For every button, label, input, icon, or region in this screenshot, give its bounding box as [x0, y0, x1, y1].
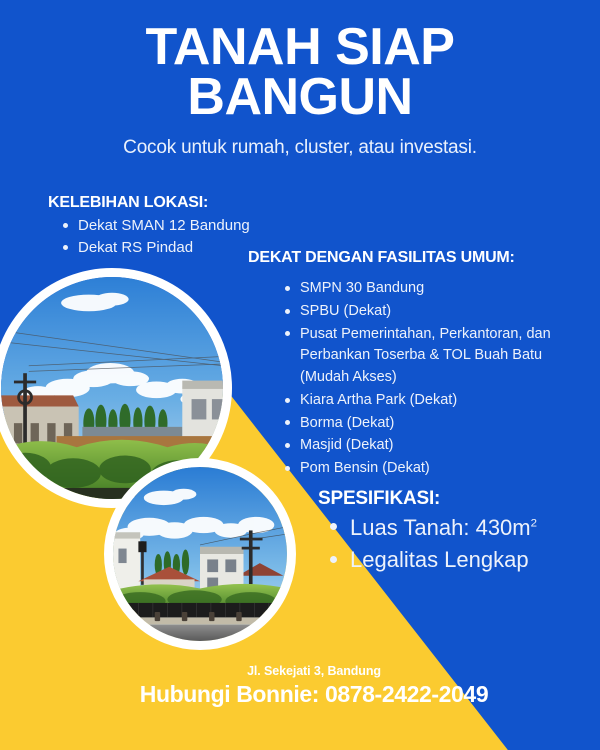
luas-tanah-value: Luas Tanah: 430m — [350, 515, 531, 540]
list-item-legalitas: Legalitas Lengkap — [326, 544, 590, 575]
real-estate-flyer: TANAH SIAP BANGUN Cocok untuk rumah, clu… — [0, 0, 600, 750]
subheadline: Cocok untuk rumah, cluster, atau investa… — [0, 137, 600, 160]
headline-line-2: BANGUN — [0, 72, 600, 122]
headline-block: TANAH SIAP BANGUN Cocok untuk rumah, clu… — [0, 22, 600, 160]
list-item: Masjid (Dekat) — [282, 435, 588, 457]
spesifikasi-list: Luas Tanah: 430m2 Legalitas Lengkap — [318, 512, 590, 575]
contact-phone[interactable]: Hubungi Bonnie: 0878-2422-2049 — [28, 681, 600, 708]
footer-contact-block: Jl. Sekejati 3, Bandung Hubungi Bonnie: … — [0, 664, 600, 708]
fasilitas-umum-title: DEKAT DENGAN FASILITAS UMUM: — [248, 249, 588, 267]
fasilitas-umum-list: SMPN 30 Bandung SPBU (Dekat) Pusat Pemer… — [248, 278, 588, 480]
list-item: Dekat SMAN 12 Bandung — [60, 215, 308, 236]
address-text: Jl. Sekejati 3, Bandung — [28, 664, 600, 678]
list-item: Pom Bensin (Dekat) — [282, 458, 588, 480]
headline-line-1: TANAH SIAP — [0, 22, 600, 72]
land-photo-street — [104, 458, 296, 650]
spesifikasi-section: SPESIFIKASI: Luas Tanah: 430m2 Legalitas… — [318, 488, 590, 576]
spesifikasi-title: SPESIFIKASI: — [318, 488, 590, 510]
list-item: SMPN 30 Bandung — [282, 278, 588, 300]
list-item: SPBU (Dekat) — [282, 301, 588, 323]
kelebihan-lokasi-title: KELEBIHAN LOKASI: — [48, 194, 308, 212]
fasilitas-umum-section: DEKAT DENGAN FASILITAS UMUM: SMPN 30 Ban… — [248, 249, 588, 481]
list-item: Borma (Dekat) — [282, 413, 588, 435]
list-item: Kiara Artha Park (Dekat) — [282, 390, 588, 412]
land-photo-street-graphic — [113, 467, 287, 641]
list-item-luas-tanah: Luas Tanah: 430m2 — [326, 512, 590, 543]
list-item: Pusat Pemerintahan, Perkantoran, dan Per… — [282, 324, 588, 389]
square-meter-superscript: 2 — [531, 518, 537, 530]
